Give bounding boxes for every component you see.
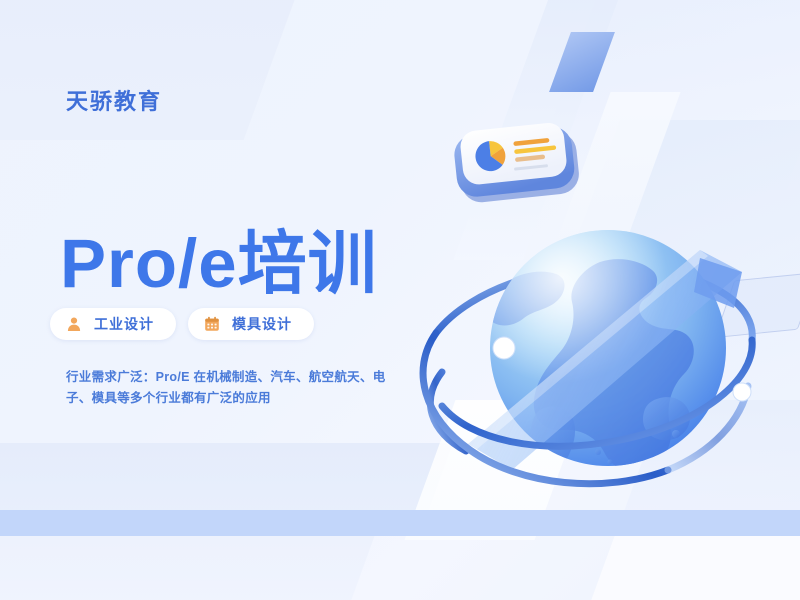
description-text: 行业需求广泛：Pro/E 在机械制造、汽车、航空航天、电子、模具等多个行业都有广… xyxy=(66,367,386,411)
brand-name: 天骄教育 xyxy=(66,84,162,116)
bg-shape-white-bottom xyxy=(585,536,800,600)
calendar-icon xyxy=(204,316,220,332)
tag-label: 模具设计 xyxy=(232,314,292,334)
tag-mold-design[interactable]: 模具设计 xyxy=(188,308,314,340)
bg-shape-top-left xyxy=(0,0,316,140)
user-icon xyxy=(66,316,82,332)
promo-banner: 天骄教育 Pro/e培训 工业设计 xyxy=(0,0,800,600)
bg-band-bottom xyxy=(0,536,375,600)
tag-industrial-design[interactable]: 工业设计 xyxy=(50,308,176,340)
bg-band-bottom-left xyxy=(0,443,453,515)
tag-list: 工业设计 模具设计 xyxy=(50,308,314,340)
page-title: Pro/e培训 xyxy=(60,229,378,298)
bg-ribbon xyxy=(0,510,800,536)
tag-label: 工业设计 xyxy=(94,314,154,334)
